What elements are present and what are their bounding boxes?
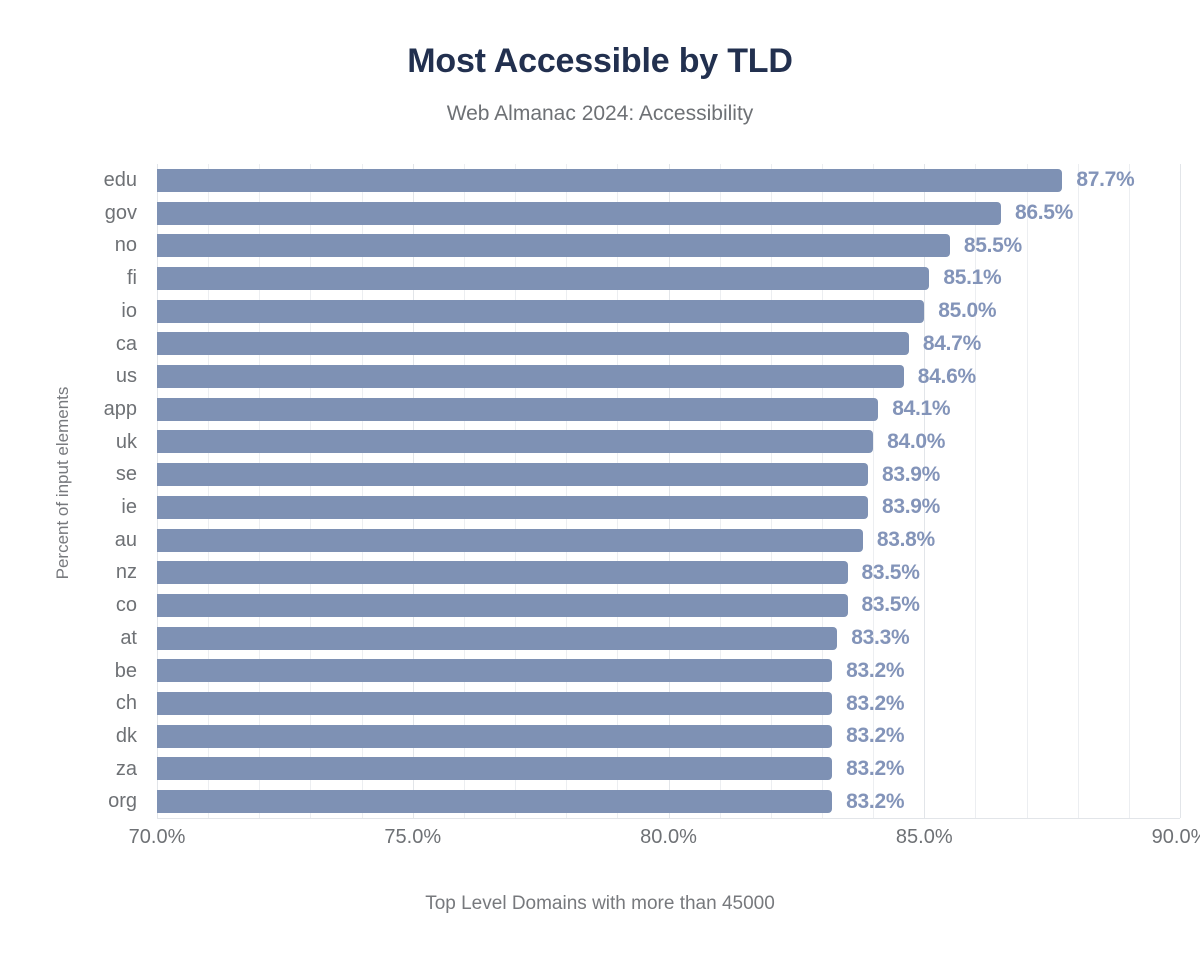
y-axis-tick-label: za bbox=[116, 753, 137, 786]
bar-chart: Most Accessible by TLD Web Almanac 2024:… bbox=[0, 0, 1200, 966]
y-axis-tick-label: uk bbox=[116, 426, 137, 459]
bar[interactable] bbox=[157, 725, 832, 748]
bar-row[interactable]: 83.2% bbox=[157, 720, 1180, 753]
bar-row[interactable]: 83.8% bbox=[157, 524, 1180, 557]
bar[interactable] bbox=[157, 627, 837, 650]
bar-value-label: 84.6% bbox=[918, 365, 976, 389]
plot-area: 87.7%86.5%85.5%85.1%85.0%84.7%84.6%84.1%… bbox=[157, 164, 1180, 818]
bar-value-label: 83.2% bbox=[846, 790, 904, 814]
bar[interactable] bbox=[157, 594, 848, 617]
bar-value-label: 83.5% bbox=[862, 593, 920, 617]
bar[interactable] bbox=[157, 430, 873, 453]
y-axis-tick-label: be bbox=[115, 655, 137, 688]
bar[interactable] bbox=[157, 659, 832, 682]
y-axis-tick-label: edu bbox=[104, 164, 137, 197]
bar-row[interactable]: 84.7% bbox=[157, 328, 1180, 361]
bar-row[interactable]: 83.5% bbox=[157, 556, 1180, 589]
y-axis-tick-label: ch bbox=[116, 687, 137, 720]
bar[interactable] bbox=[157, 757, 832, 780]
y-axis-tick-label: ca bbox=[116, 328, 137, 361]
y-axis-tick-label: se bbox=[116, 458, 137, 491]
y-axis-tick-label: nz bbox=[116, 556, 137, 589]
x-axis-title: Top Level Domains with more than 45000 bbox=[0, 893, 1200, 915]
bar-row[interactable]: 84.1% bbox=[157, 393, 1180, 426]
y-axis-tick-label: at bbox=[120, 622, 137, 655]
y-axis-tick-label: fi bbox=[127, 262, 137, 295]
x-axis-tick-labels: 70.0%75.0%80.0%85.0%90.0% bbox=[157, 826, 1180, 858]
bar-value-label: 83.2% bbox=[846, 692, 904, 716]
bar[interactable] bbox=[157, 561, 848, 584]
bar[interactable] bbox=[157, 267, 929, 290]
y-axis-tick-label: co bbox=[116, 589, 137, 622]
bar-row[interactable]: 83.2% bbox=[157, 655, 1180, 688]
x-axis-tick-label: 85.0% bbox=[896, 826, 953, 849]
bar-value-label: 84.7% bbox=[923, 332, 981, 356]
bar[interactable] bbox=[157, 398, 878, 421]
bar-value-label: 83.5% bbox=[862, 561, 920, 585]
bar-value-label: 83.8% bbox=[877, 528, 935, 552]
bar[interactable] bbox=[157, 496, 868, 519]
bar[interactable] bbox=[157, 790, 832, 813]
bar-value-label: 83.9% bbox=[882, 463, 940, 487]
bar-row[interactable]: 85.1% bbox=[157, 262, 1180, 295]
x-axis-tick-label: 70.0% bbox=[129, 826, 186, 849]
bar[interactable] bbox=[157, 234, 950, 257]
bar-row[interactable]: 83.9% bbox=[157, 458, 1180, 491]
bar[interactable] bbox=[157, 529, 863, 552]
bar-value-label: 85.1% bbox=[943, 266, 1001, 290]
bar-value-label: 83.2% bbox=[846, 724, 904, 748]
y-axis-tick-label: us bbox=[116, 360, 137, 393]
y-axis-tick-label: gov bbox=[105, 197, 137, 230]
bar[interactable] bbox=[157, 332, 909, 355]
x-axis-tick-label: 90.0% bbox=[1152, 826, 1200, 849]
chart-subtitle: Web Almanac 2024: Accessibility bbox=[0, 102, 1200, 126]
gridline-major bbox=[1180, 164, 1181, 818]
bar-row[interactable]: 85.0% bbox=[157, 295, 1180, 328]
bar[interactable] bbox=[157, 300, 924, 323]
bar-row[interactable]: 87.7% bbox=[157, 164, 1180, 197]
bar-row[interactable]: 83.9% bbox=[157, 491, 1180, 524]
bar-row[interactable]: 85.5% bbox=[157, 229, 1180, 262]
bar-row[interactable]: 83.2% bbox=[157, 785, 1180, 818]
chart-title: Most Accessible by TLD bbox=[0, 42, 1200, 81]
y-axis-tick-label: app bbox=[104, 393, 137, 426]
bar-row[interactable]: 83.2% bbox=[157, 753, 1180, 786]
y-axis-tick-labels: edugovnofiiocausappukseieaunzcoatbechdkz… bbox=[0, 164, 147, 818]
bar[interactable] bbox=[157, 463, 868, 486]
bar-value-label: 87.7% bbox=[1076, 168, 1134, 192]
x-axis-tick-label: 75.0% bbox=[384, 826, 441, 849]
bar-row[interactable]: 83.3% bbox=[157, 622, 1180, 655]
x-axis-line bbox=[157, 818, 1180, 819]
bar-value-label: 83.2% bbox=[846, 757, 904, 781]
bar-value-label: 83.3% bbox=[851, 626, 909, 650]
y-axis-tick-label: au bbox=[115, 524, 137, 557]
bar-rows: 87.7%86.5%85.5%85.1%85.0%84.7%84.6%84.1%… bbox=[157, 164, 1180, 818]
bar-value-label: 83.2% bbox=[846, 659, 904, 683]
y-axis-tick-label: no bbox=[115, 229, 137, 262]
bar-value-label: 84.1% bbox=[892, 397, 950, 421]
x-axis-tick-label: 80.0% bbox=[640, 826, 697, 849]
bar-row[interactable]: 86.5% bbox=[157, 197, 1180, 230]
bar-row[interactable]: 84.6% bbox=[157, 360, 1180, 393]
y-axis-tick-label: ie bbox=[121, 491, 137, 524]
bar[interactable] bbox=[157, 365, 904, 388]
bar-value-label: 86.5% bbox=[1015, 201, 1073, 225]
bar[interactable] bbox=[157, 692, 832, 715]
bar-value-label: 85.5% bbox=[964, 234, 1022, 258]
bar-value-label: 85.0% bbox=[938, 299, 996, 323]
bar-row[interactable]: 83.5% bbox=[157, 589, 1180, 622]
y-axis-tick-label: org bbox=[108, 785, 137, 818]
bar-value-label: 84.0% bbox=[887, 430, 945, 454]
y-axis-tick-label: dk bbox=[116, 720, 137, 753]
bar[interactable] bbox=[157, 202, 1001, 225]
y-axis-tick-label: io bbox=[121, 295, 137, 328]
bar-value-label: 83.9% bbox=[882, 495, 940, 519]
bar[interactable] bbox=[157, 169, 1062, 192]
bar-row[interactable]: 84.0% bbox=[157, 426, 1180, 459]
bar-row[interactable]: 83.2% bbox=[157, 687, 1180, 720]
